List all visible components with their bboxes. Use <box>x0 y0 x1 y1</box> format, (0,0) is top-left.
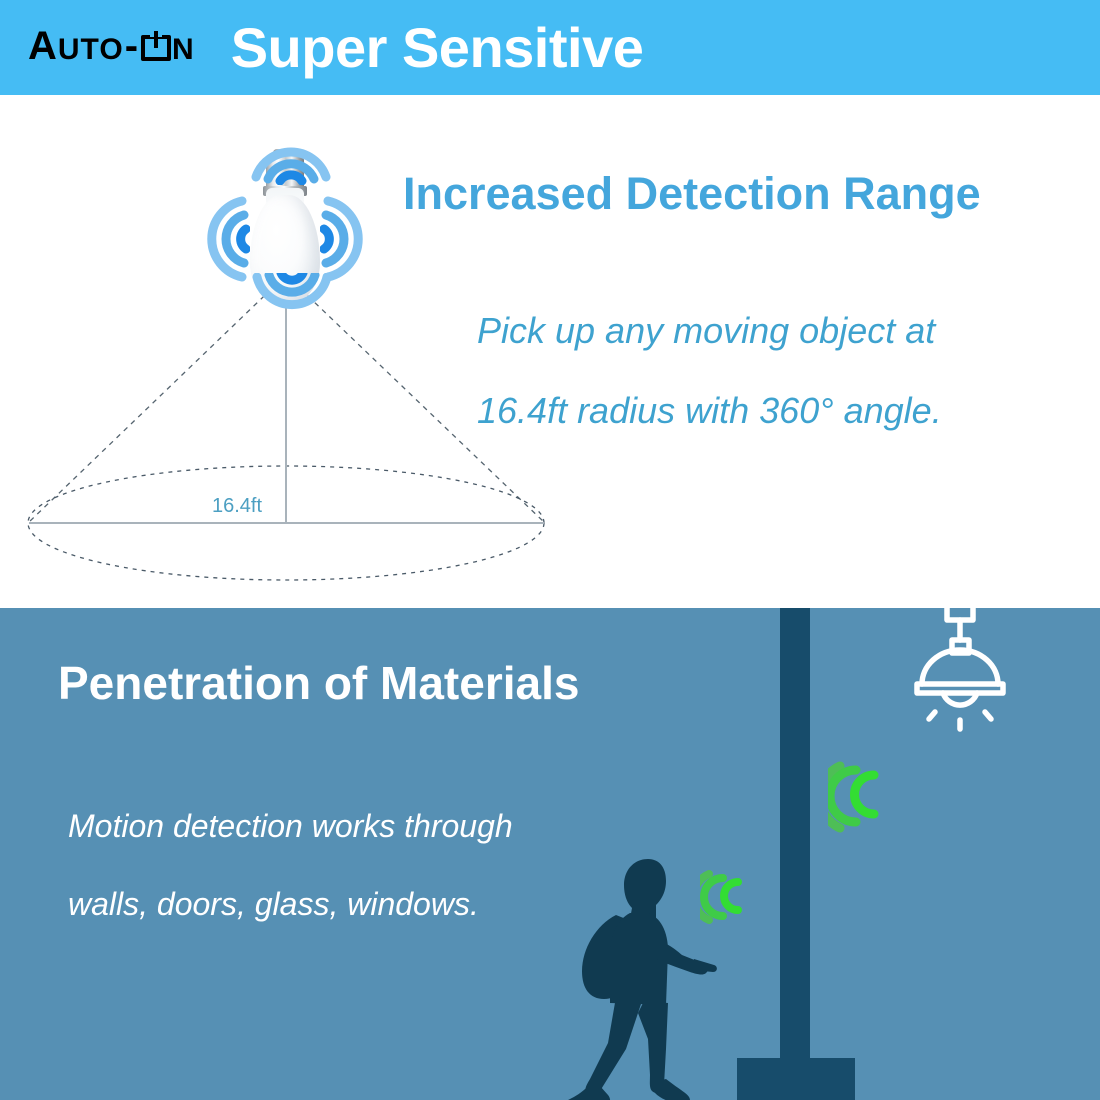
detection-body-line-1: Pick up any moving object at <box>477 310 935 352</box>
logo-letter-n: N <box>172 30 195 70</box>
penetration-section: Penetration of Materials Motion detectio… <box>0 608 1100 1100</box>
section-title-detection: Increased Detection Range <box>403 168 981 220</box>
page-title: Super Sensitive <box>231 15 644 80</box>
signal-wave-icon-top <box>236 115 346 185</box>
wall-pillar <box>780 608 810 1063</box>
penetration-body-line-1: Motion detection works through <box>68 808 513 845</box>
signal-wave-icon-left <box>178 183 250 295</box>
header-bar: A UTO - N Super Sensitive <box>0 0 1100 95</box>
penetration-body-line-2: walls, doors, glass, windows. <box>68 886 479 923</box>
detection-range-section: Increased Detection Range Pick up any mo… <box>0 95 1100 608</box>
logo-letters-uto: UTO <box>58 30 124 70</box>
logo-letter-a: A <box>28 26 58 66</box>
detection-body-line-2: 16.4ft radius with 360° angle. <box>477 390 942 432</box>
walking-person-silhouette <box>556 853 736 1100</box>
wall-base <box>737 1058 855 1100</box>
signal-wave-icon-green-upper <box>828 756 900 838</box>
range-measurement-label: 16.4ft <box>212 495 262 518</box>
power-icon <box>141 31 171 61</box>
brand-logo: A UTO - N <box>28 26 195 70</box>
pendant-lamp-icon <box>905 608 1015 735</box>
section-title-penetration: Penetration of Materials <box>58 656 579 710</box>
logo-dash: - <box>125 26 139 66</box>
signal-wave-icon-bottom <box>243 273 343 335</box>
